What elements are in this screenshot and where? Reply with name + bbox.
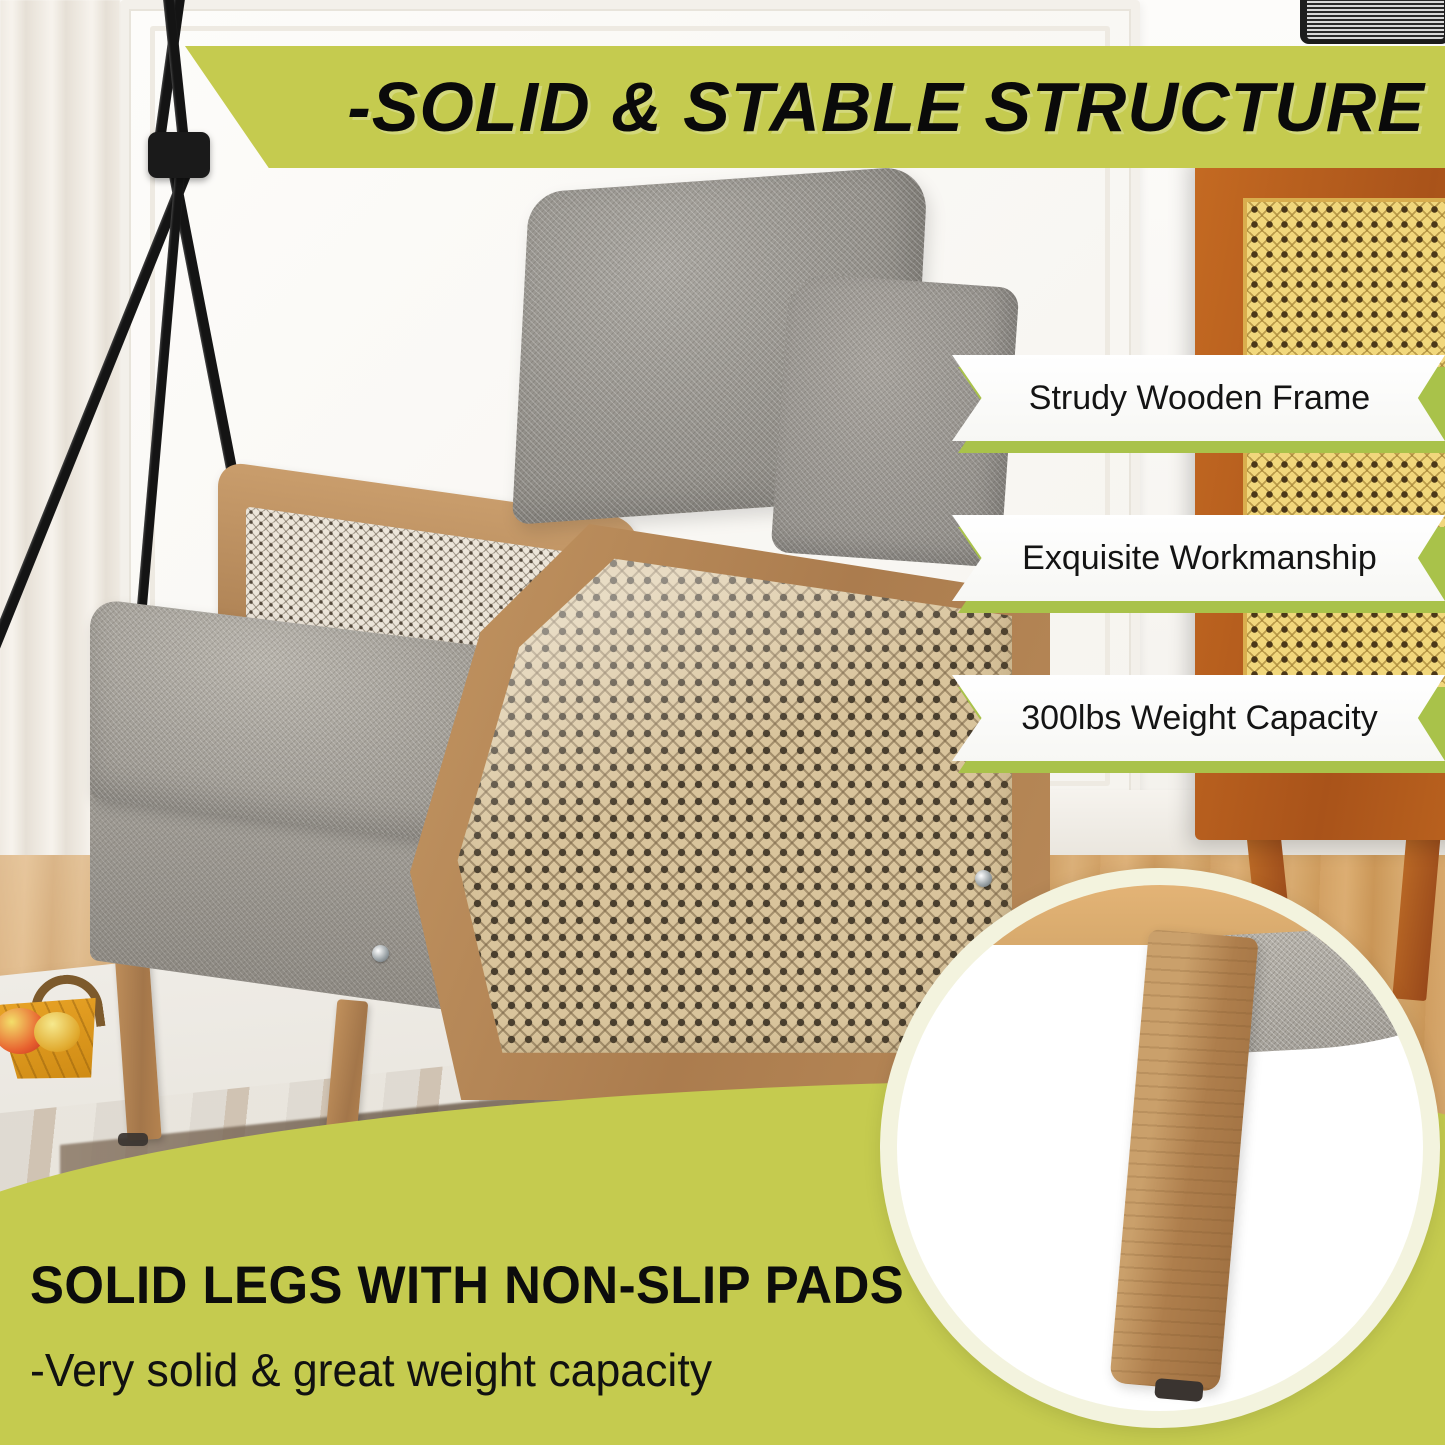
footer-subline: -Very solid & great weight capacity bbox=[30, 1343, 712, 1397]
frame-screw-left bbox=[372, 945, 389, 962]
feature-callout-label-3: 300lbs Weight Capacity bbox=[952, 675, 1445, 761]
leg-detail-inset bbox=[880, 868, 1440, 1428]
feature-callout-label-1: Strudy Wooden Frame bbox=[952, 355, 1445, 441]
footer-headline: SOLID LEGS WITH NON-SLIP PADS bbox=[30, 1255, 904, 1316]
feature-callout-3[interactable]: 300lbs Weight Capacity bbox=[952, 675, 1445, 761]
feature-callout-2[interactable]: Exquisite Workmanship bbox=[952, 515, 1445, 601]
product-marketing-image: -SOLID & STABLE STRUCTURE Strudy Wooden … bbox=[0, 0, 1445, 1445]
header-banner-title: -SOLID & STABLE STRUCTURE bbox=[0, 46, 1445, 168]
speaker-grille bbox=[1307, 0, 1444, 39]
header-banner: -SOLID & STABLE STRUCTURE bbox=[0, 46, 1445, 168]
speaker bbox=[1300, 0, 1445, 44]
feature-callout-label-2: Exquisite Workmanship bbox=[952, 515, 1445, 601]
leg-detail-wooden-leg bbox=[1109, 929, 1258, 1392]
feature-callout-list: Strudy Wooden Frame Exquisite Workmanshi… bbox=[952, 355, 1445, 795]
apple-2 bbox=[34, 1012, 80, 1052]
leg-detail-non-slip-pad bbox=[1154, 1378, 1204, 1402]
feature-callout-1[interactable]: Strudy Wooden Frame bbox=[952, 355, 1445, 441]
